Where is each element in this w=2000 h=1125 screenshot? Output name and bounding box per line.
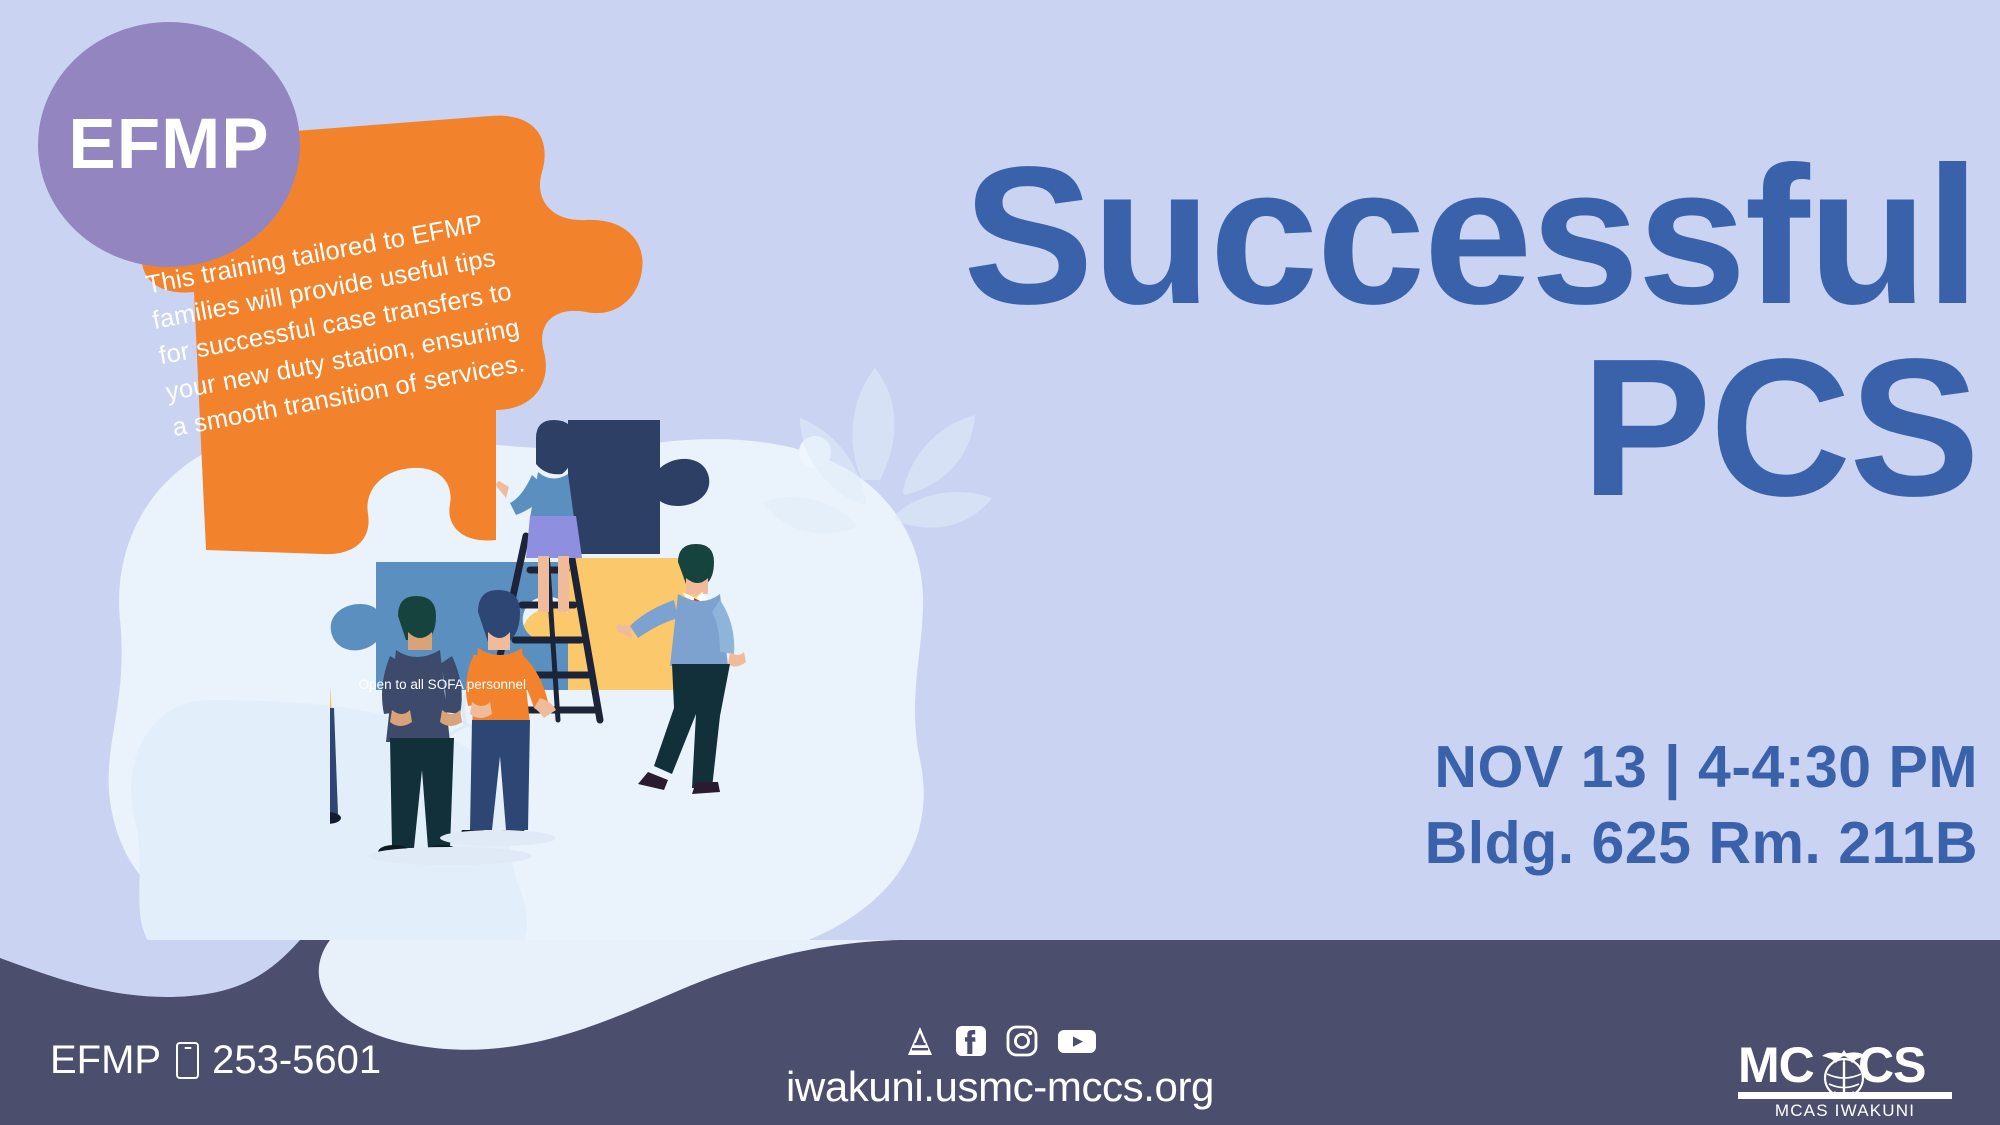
youtube-icon[interactable] <box>1056 1024 1098 1058</box>
website-url[interactable]: iwakuni.usmc-mccs.org <box>786 1063 1214 1111</box>
efmp-badge: EFMP <box>38 22 300 267</box>
poster-canvas: This training tailored to EFMP families … <box>0 0 2000 1125</box>
social-links <box>786 1024 1214 1058</box>
page-title: Successful PCS <box>658 140 1978 524</box>
footer-web: iwakuni.usmc-mccs.org <box>786 1024 1214 1111</box>
sofa-banner-text: Open to all SOFA personnel <box>359 677 526 692</box>
mccs-logo-subtitle: MCAS IWAKUNI <box>1775 1101 1915 1118</box>
footer-bar: EFMP 253-5601 <box>0 940 2000 1125</box>
mobile-phone-icon <box>176 1042 199 1079</box>
efmp-badge-label: EFMP <box>68 109 269 180</box>
sofa-banner: Open to all SOFA personnel <box>372 672 529 697</box>
footer-phone-number: 253-5601 <box>212 1038 381 1083</box>
event-location: Bldg. 625 Rm. 211B <box>778 806 1978 882</box>
headline-line-1: Successful <box>963 126 1978 345</box>
svg-text:CS: CS <box>1858 1037 1925 1093</box>
mccs-a-icon[interactable] <box>903 1024 937 1058</box>
svg-text:MC: MC <box>1738 1037 1814 1093</box>
headline-line-2: PCS <box>658 332 1978 524</box>
footer-contact: EFMP 253-5601 <box>50 1038 381 1083</box>
mccs-logo: MC CS MCAS IWAKUNI <box>1734 1032 1956 1123</box>
facebook-icon[interactable] <box>954 1024 988 1058</box>
event-details: NOV 13 | 4-4:30 PM Bldg. 625 Rm. 211B <box>778 730 1978 881</box>
event-date-time: NOV 13 | 4-4:30 PM <box>778 730 1978 806</box>
instagram-icon[interactable] <box>1005 1024 1039 1058</box>
footer-contact-label: EFMP <box>50 1038 161 1083</box>
mccs-wordmark: MC CS MCAS IWAKUNI <box>1734 1032 1956 1118</box>
